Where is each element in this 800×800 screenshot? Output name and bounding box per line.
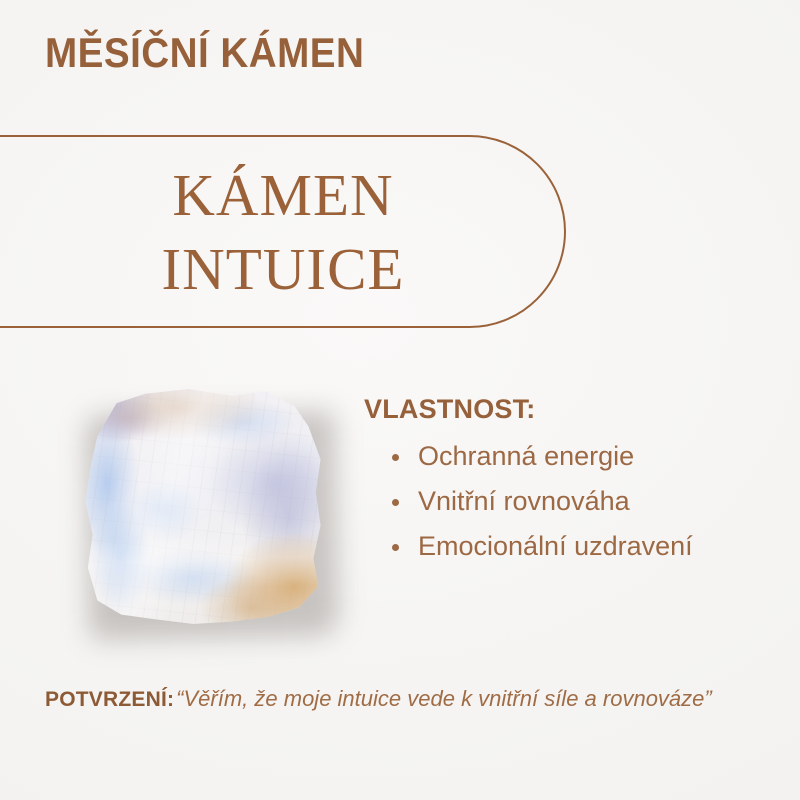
- affirmation-section: POTVRZENÍ:“Věřím, že moje intuice vede k…: [45, 682, 745, 717]
- affirmation-label: POTVRZENÍ:: [45, 688, 174, 711]
- properties-heading: VLASTNOST:: [364, 392, 784, 426]
- moonstone-highlight: [83, 389, 323, 624]
- poster-canvas: MĚSÍČNÍ KÁMEN KÁMEN INTUICE VLASTNOST: O…: [0, 0, 800, 800]
- affirmation-quote: “Věřím, že moje intuice vede k vnitřní s…: [174, 686, 712, 711]
- list-item: Emocionální uzdravení: [364, 524, 784, 569]
- list-item: Ochranná energie: [364, 434, 784, 479]
- properties-section: VLASTNOST: Ochranná energie Vnitřní rovn…: [364, 392, 784, 569]
- list-item: Vnitřní rovnováha: [364, 479, 784, 524]
- hero-pill-outline: [0, 135, 566, 328]
- moonstone-image: [55, 375, 345, 640]
- page-title: MĚSÍČNÍ KÁMEN: [45, 29, 364, 77]
- properties-list: Ochranná energie Vnitřní rovnováha Emoci…: [364, 434, 784, 569]
